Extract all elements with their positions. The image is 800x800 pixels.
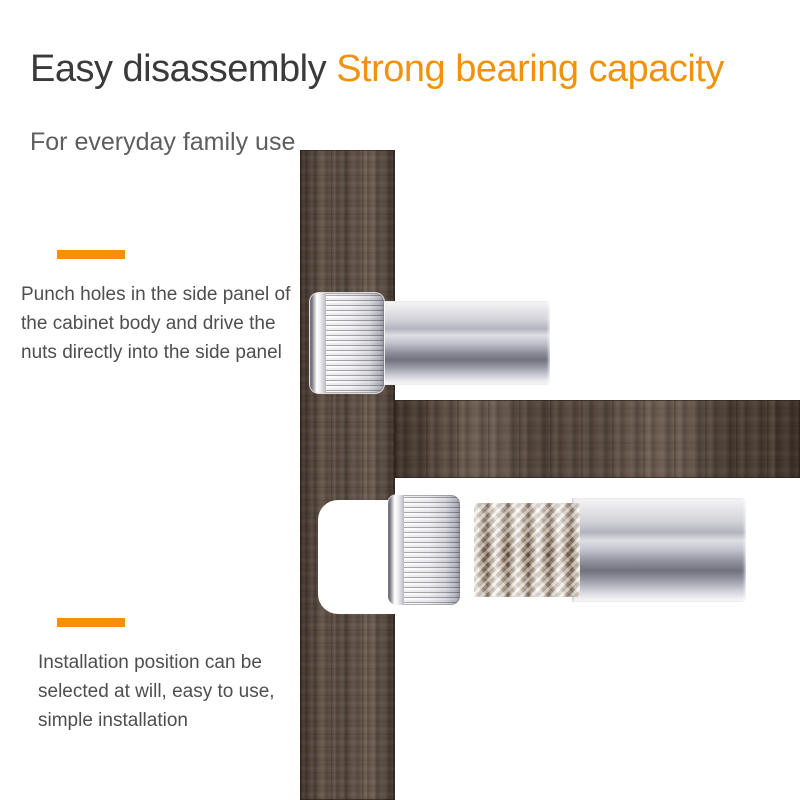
nut-screw-thread [474, 503, 580, 597]
callout-line: nuts directly into the side panel [21, 338, 290, 367]
callout-line: simple installation [38, 706, 275, 735]
callout-text-bottom: Installation position can be selected at… [38, 648, 275, 735]
nut-head-highlight [310, 293, 326, 393]
callout-accent-bar-top [57, 250, 125, 259]
cabinet-shelf-panel [395, 400, 800, 478]
page-title: Easy disassembly Strong bearing capacity [30, 46, 724, 92]
callout-line: the cabinet body and drive the [21, 309, 290, 338]
callout-accent-bar-bottom [57, 618, 125, 627]
cabinet-side-panel [300, 150, 395, 800]
callout-line: selected at will, easy to use, [38, 677, 275, 706]
page-title-primary: Easy disassembly [30, 48, 326, 90]
callout-text-top: Punch holes in the side panel of the cab… [21, 280, 290, 367]
nut-barrel [572, 498, 746, 602]
callout-block-bottom: Installation position can be selected at… [57, 618, 275, 735]
page-subtitle: For everyday family use [30, 126, 295, 158]
nut-knurled-head [388, 495, 460, 605]
callout-block-top: Punch holes in the side panel of the cab… [57, 250, 290, 367]
callout-line: Installation position can be [38, 648, 275, 677]
nut-barrel [378, 301, 550, 385]
nut-head-highlight [388, 495, 404, 605]
knurled-insert-nut-threaded [388, 495, 746, 605]
nut-knurled-head [310, 293, 384, 393]
page-title-accent: Strong bearing capacity [336, 48, 724, 90]
nut-thread-crests [474, 503, 580, 597]
infographic-canvas: Easy disassembly Strong bearing capacity… [0, 0, 800, 800]
knurled-insert-nut-installed [310, 293, 550, 393]
callout-line: Punch holes in the side panel of [21, 280, 290, 309]
